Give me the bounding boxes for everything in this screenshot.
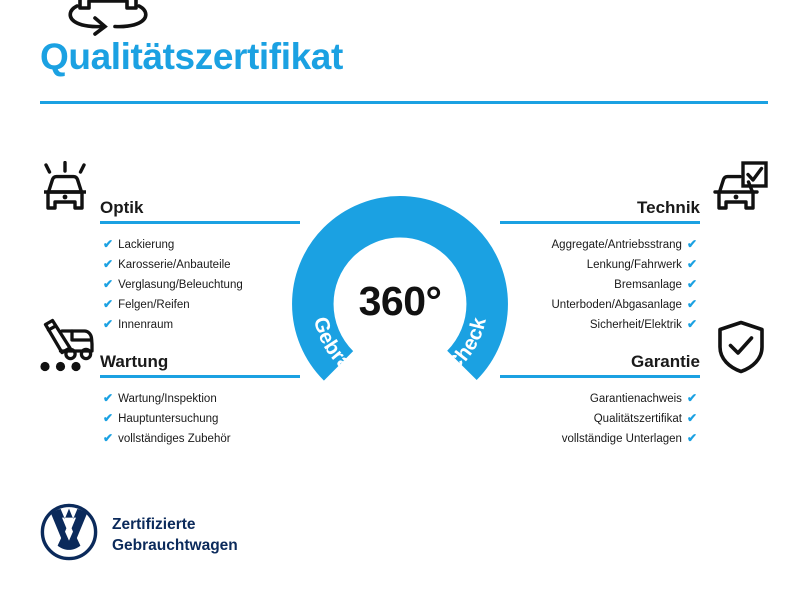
check-icon: ✔ [103, 411, 113, 425]
vw-logo-icon [40, 503, 98, 566]
section-wartung-list: ✔Wartung/Inspektion ✔Hauptuntersuchung ✔… [103, 388, 231, 448]
check-icon: ✔ [687, 277, 697, 291]
list-item: Sicherheit/Elektrik✔ [552, 314, 698, 334]
section-wartung-head: Wartung [100, 339, 300, 373]
list-item-label: Felgen/Reifen [118, 299, 190, 311]
section-technik-list: Aggregate/Antriebsstrang✔ Lenkung/Fahrwe… [552, 234, 698, 334]
check-icon: ✔ [687, 431, 697, 445]
list-item-label: Sicherheit/Elektrik [590, 319, 682, 331]
list-item: ✔Hauptuntersuchung [103, 408, 231, 428]
list-item-label: Verglasung/Beleuchtung [118, 279, 243, 291]
section-technik-head: Technik [500, 185, 700, 219]
check-icon: ✔ [103, 391, 113, 405]
section-technik: Technik Aggregate/Antriebsstrang✔ Lenkun… [500, 185, 700, 219]
section-optik: Optik ✔Lackierung ✔Karosserie/Anbauteile… [100, 185, 300, 219]
list-item-label: Qualitätszertifikat [594, 413, 682, 425]
pen-car-service-icon [36, 318, 96, 379]
section-garantie: Garantie Garantienachweis✔ Qualitätszert… [500, 339, 700, 373]
section-technik-divider [500, 221, 700, 224]
shield-check-icon [716, 320, 766, 379]
certificate-page: Qualitätszertifikat [0, 0, 800, 600]
check-icon: ✔ [687, 411, 697, 425]
list-item: ✔Verglasung/Beleuchtung [103, 274, 243, 294]
section-garantie-head: Garantie [500, 339, 700, 373]
section-wartung-title: Wartung [100, 352, 168, 372]
list-item: ✔Wartung/Inspektion [103, 388, 231, 408]
footer-text: Zertifizierte Gebrauchtwagen [112, 514, 238, 556]
list-item-label: Bremsanlage [614, 279, 682, 291]
section-optik-title: Optik [100, 198, 143, 218]
car-shine-icon [36, 161, 94, 220]
section-wartung: Wartung ✔Wartung/Inspektion ✔Hauptunters… [100, 339, 300, 373]
list-item: ✔Innenraum [103, 314, 243, 334]
section-wartung-divider [100, 375, 300, 378]
car-rotate-icon [55, 0, 161, 45]
list-item-label: Aggregate/Antriebsstrang [552, 239, 682, 251]
check-icon: ✔ [103, 317, 113, 331]
check-icon: ✔ [687, 391, 697, 405]
list-item: ✔vollständiges Zubehör [103, 428, 231, 448]
list-item-label: Lenkung/Fahrwerk [587, 259, 682, 271]
list-item: ✔Lackierung [103, 234, 243, 254]
list-item-label: vollständige Unterlagen [562, 433, 682, 445]
check-icon: ✔ [687, 297, 697, 311]
section-garantie-divider [500, 375, 700, 378]
vw-certified-lockup: Zertifizierte Gebrauchtwagen [40, 503, 238, 566]
list-item: Lenkung/Fahrwerk✔ [552, 254, 698, 274]
badge-arc: Gebrauchtwagen-Check [292, 196, 508, 412]
list-item-label: Lackierung [118, 239, 174, 251]
check-icon: ✔ [103, 277, 113, 291]
section-optik-list: ✔Lackierung ✔Karosserie/Anbauteile ✔Verg… [103, 234, 243, 334]
list-item-label: Hauptuntersuchung [118, 413, 218, 425]
list-item-label: Unterboden/Abgasanlage [552, 299, 682, 311]
list-item-label: Wartung/Inspektion [118, 393, 217, 405]
check-icon: ✔ [103, 237, 113, 251]
check-icon: ✔ [103, 297, 113, 311]
list-item-label: Innenraum [118, 319, 173, 331]
check-icon: ✔ [103, 257, 113, 271]
section-technik-title: Technik [637, 198, 700, 218]
check-icon: ✔ [687, 237, 697, 251]
list-item: ✔Felgen/Reifen [103, 294, 243, 314]
list-item: Qualitätszertifikat✔ [562, 408, 697, 428]
list-item-label: vollständiges Zubehör [118, 433, 231, 445]
badge-360-check: Gebrauchtwagen-Check 360° [292, 196, 508, 412]
section-garantie-list: Garantienachweis✔ Qualitätszertifikat✔ v… [562, 388, 697, 448]
list-item: Garantienachweis✔ [562, 388, 697, 408]
check-icon: ✔ [687, 317, 697, 331]
list-item: Unterboden/Abgasanlage✔ [552, 294, 698, 314]
car-checkbox-icon [710, 161, 768, 220]
list-item-label: Garantienachweis [590, 393, 682, 405]
section-optik-head: Optik [100, 185, 300, 219]
footer-line-1: Zertifizierte [112, 514, 238, 535]
list-item: Aggregate/Antriebsstrang✔ [552, 234, 698, 254]
header-divider [40, 101, 768, 104]
list-item: ✔Karosserie/Anbauteile [103, 254, 243, 274]
footer-line-2: Gebrauchtwagen [112, 535, 238, 556]
section-garantie-title: Garantie [631, 352, 700, 372]
section-optik-divider [100, 221, 300, 224]
list-item-label: Karosserie/Anbauteile [118, 259, 231, 271]
list-item: Bremsanlage✔ [552, 274, 698, 294]
list-item: vollständige Unterlagen✔ [562, 428, 697, 448]
check-icon: ✔ [103, 431, 113, 445]
check-icon: ✔ [687, 257, 697, 271]
